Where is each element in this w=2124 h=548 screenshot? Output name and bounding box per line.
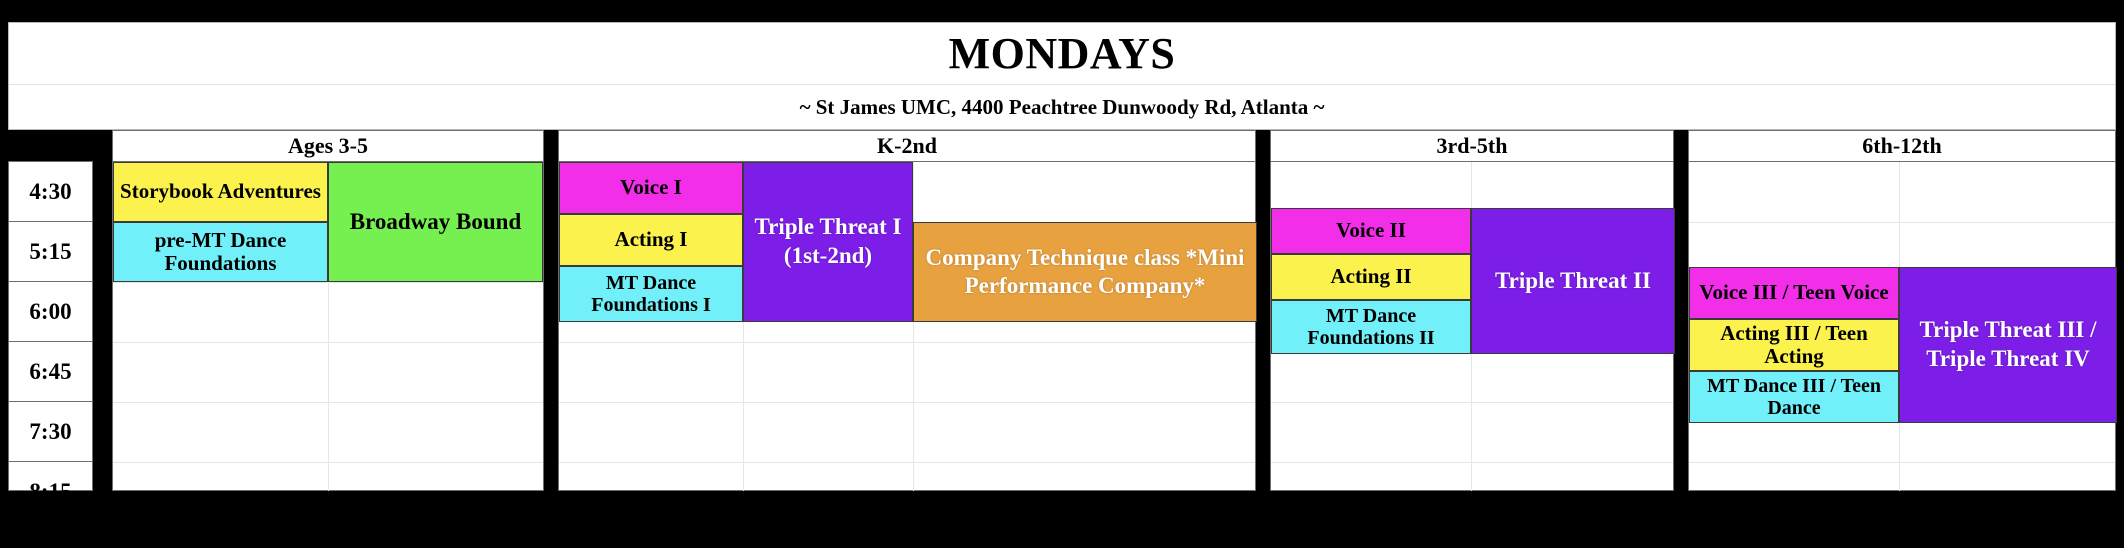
class-block[interactable]: Voice III / Teen Voice [1689,267,1899,319]
class-block[interactable]: Voice I [559,162,743,214]
schedule-grid: 4:30 5:15 6:00 6:45 7:30 8:15 Ages 3-5 S… [0,130,2124,522]
group-body: Storybook Adventures pre-MT Dance Founda… [113,162,543,491]
group-header-label: Ages 3-5 [113,131,543,162]
class-block[interactable]: MT Dance III / Teen Dance [1689,371,1899,423]
class-block[interactable]: pre-MT Dance Foundations [113,222,328,282]
class-block[interactable]: Acting II [1271,254,1471,300]
class-block[interactable]: Broadway Bound [328,162,543,282]
grid-divider [113,282,543,283]
group-body: Voice III / Teen Voice Acting III / Teen… [1689,162,2115,491]
grid-divider [113,342,543,343]
grid-divider [1689,222,2115,223]
grid-divider [1271,402,1673,403]
time-label: 7:30 [9,402,92,462]
group-body: Voice II Acting II MT Dance Foundations … [1271,162,1673,491]
subtitle-row: ~ St James UMC, 4400 Peachtree Dunwoody … [9,85,2115,130]
schedule-page: MONDAYS ~ St James UMC, 4400 Peachtree D… [0,0,2124,548]
group-body: Voice I Acting I MT Dance Foundations I … [559,162,1255,491]
group-header-label: 3rd-5th [1271,131,1673,162]
group-ages-3-5: Ages 3-5 Storybook Adventures pre-MT Dan… [112,130,544,491]
group-header-label: 6th-12th [1689,131,2115,162]
time-label: 8:15 [9,462,92,522]
group-3rd-5th: 3rd-5th Voice II Acting II MT Dance Foun… [1270,130,1674,491]
schedule-header: MONDAYS ~ St James UMC, 4400 Peachtree D… [8,22,2116,130]
class-block[interactable]: Company Technique class *Mini Performanc… [913,222,1257,322]
class-block[interactable]: Triple Threat I (1st-2nd) [743,162,913,322]
class-block[interactable]: MT Dance Foundations I [559,266,743,322]
grid-divider [113,402,543,403]
time-label: 4:30 [9,162,92,222]
grid-divider [559,462,1255,463]
group-header-label: K-2nd [559,131,1255,162]
class-block[interactable]: Storybook Adventures [113,162,328,222]
grid-divider [1689,462,2115,463]
grid-divider [913,162,914,491]
class-block[interactable]: Acting III / Teen Acting [1689,319,1899,371]
time-label: 6:00 [9,282,92,342]
grid-divider [559,342,1255,343]
group-k-2nd: K-2nd Voice I Acting I MT Dance Foundati… [558,130,1256,491]
grid-divider [113,462,543,463]
grid-divider [1271,462,1673,463]
time-label: 5:15 [9,222,92,282]
page-title: MONDAYS [949,32,1176,76]
time-column: 4:30 5:15 6:00 6:45 7:30 8:15 [8,161,93,491]
group-6th-12th: 6th-12th Voice III / Teen Voice Acting I… [1688,130,2116,491]
time-label: 6:45 [9,342,92,402]
grid-divider [559,402,1255,403]
location-subtitle: ~ St James UMC, 4400 Peachtree Dunwoody … [800,95,1325,120]
class-block[interactable]: Triple Threat II [1471,208,1675,354]
class-block[interactable]: Voice II [1271,208,1471,254]
title-row: MONDAYS [9,23,2115,85]
class-block[interactable]: MT Dance Foundations II [1271,300,1471,354]
class-block[interactable]: Triple Threat III / Triple Threat IV [1899,267,2117,423]
class-block[interactable]: Acting I [559,214,743,266]
